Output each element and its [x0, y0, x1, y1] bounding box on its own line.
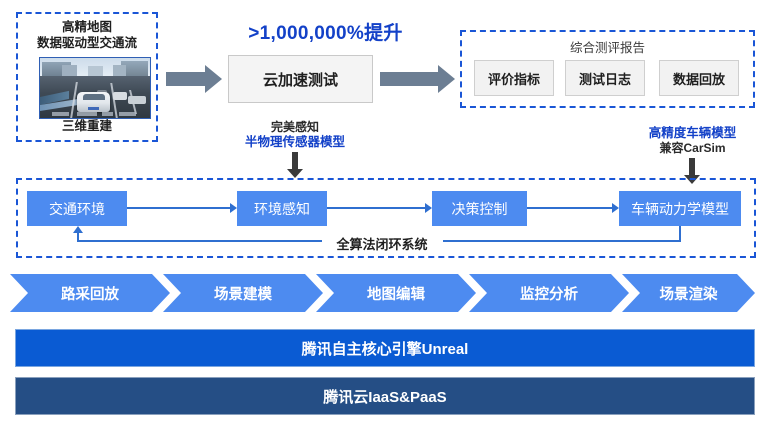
annotation-perception: 完美感知 半物理传感器模型 [205, 120, 385, 150]
connector-1-2 [327, 207, 425, 209]
page-title: >1,000,000%提升 [218, 18, 433, 45]
flow-arrow-to-cloud [166, 65, 222, 93]
report-chip-metrics[interactable]: 评价指标 [474, 60, 554, 96]
closed-loop-label: 全算法闭环系统 [322, 234, 442, 253]
report-chip-data-playback[interactable]: 数据回放 [659, 60, 739, 96]
platform-bar-engine: 腾讯自主核心引擎Unreal [15, 329, 755, 367]
source-data-panel: 高精地图 数据驱动型交通流 三维重建 [16, 12, 158, 142]
source-caption: 三维重建 [18, 115, 156, 134]
feedback-line-right [443, 240, 681, 242]
platform-bar-cloud: 腾讯云IaaS&PaaS [15, 377, 755, 415]
evaluation-report-panel: 综合测评报告 评价指标 测试日志 数据回放 [460, 30, 755, 108]
connector-arrow-2-3 [612, 203, 619, 213]
flow-arrow-to-report [380, 65, 455, 93]
annotation-perception-line2: 半物理传感器模型 [205, 135, 385, 150]
pipeline-step-map-editing[interactable]: 地图编辑 [316, 274, 476, 312]
pipeline-step-scene-rendering[interactable]: 场景渲染 [622, 274, 755, 312]
loop-node-vehicle-dynamics-model[interactable]: 车辆动力学模型 [619, 191, 741, 226]
source-title-line2: 数据驱动型交通流 [18, 35, 156, 51]
road-scene-photo-icon [39, 57, 151, 119]
feedback-arrow-up [73, 226, 83, 233]
cloud-accelerated-test-box[interactable]: 云加速测试 [228, 55, 373, 103]
report-title: 综合测评报告 [462, 37, 753, 56]
connector-arrow-1-2 [425, 203, 432, 213]
source-title-line1: 高精地图 [18, 19, 156, 35]
annotation-vehicle-model-line1: 高精度车辆模型 [610, 126, 764, 141]
loop-node-environment-perception[interactable]: 环境感知 [237, 191, 327, 226]
report-chip-test-log[interactable]: 测试日志 [565, 60, 645, 96]
connector-arrow-0-1 [230, 203, 237, 213]
down-arrow-perception [287, 152, 303, 178]
source-title: 高精地图 数据驱动型交通流 [18, 19, 156, 51]
annotation-vehicle-model: 高精度车辆模型 兼容CarSim [610, 126, 764, 156]
pipeline-step-road-playback[interactable]: 路采回放 [10, 274, 170, 312]
loop-node-traffic-environment[interactable]: 交通环境 [27, 191, 127, 226]
annotation-vehicle-model-line2: 兼容CarSim [610, 141, 764, 156]
annotation-perception-line1: 完美感知 [205, 120, 385, 135]
connector-2-3 [527, 207, 612, 209]
feedback-line-left [77, 240, 322, 242]
connector-0-1 [127, 207, 230, 209]
feedback-up-line [77, 232, 79, 241]
pipeline-step-scene-modeling[interactable]: 场景建模 [163, 274, 323, 312]
loop-node-decision-control[interactable]: 决策控制 [432, 191, 527, 226]
pipeline-step-monitoring-analysis[interactable]: 监控分析 [469, 274, 629, 312]
